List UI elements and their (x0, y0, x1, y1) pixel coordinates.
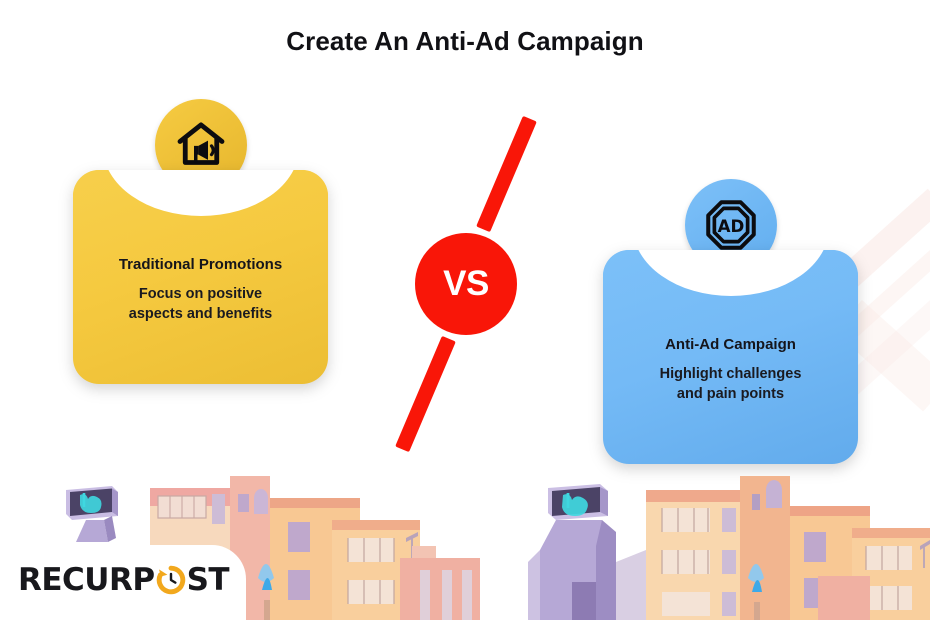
logo-text-part1: RECURP (18, 565, 155, 596)
house-megaphone-icon (173, 117, 229, 173)
description-line-1: Focus on positive (73, 285, 328, 305)
billboard-tower-right (528, 484, 616, 620)
svg-text:AD: AD (718, 217, 745, 236)
card-notch (73, 170, 328, 230)
description-line-1: Highlight challenges (603, 365, 858, 385)
anti-ad-campaign-card: Anti-Ad Campaign Highlight challenges an… (603, 250, 858, 464)
vs-badge: VS (415, 233, 517, 335)
page-title: Create An Anti-Ad Campaign (0, 26, 930, 57)
ad-block-octagon-icon: AD (703, 197, 759, 253)
infographic-canvas: Create An Anti-Ad Campaign Traditional P… (0, 0, 930, 620)
traditional-promotions-description: Focus on positive aspects and benefits (73, 285, 328, 324)
traditional-promotions-card: Traditional Promotions Focus on positive… (73, 170, 328, 384)
description-line-2: aspects and benefits (73, 305, 328, 325)
logo-text-part2: ST (187, 565, 229, 596)
card-notch (603, 250, 858, 310)
vs-label: VS (443, 264, 489, 304)
billboard-monitor-left (66, 486, 118, 542)
traditional-promotions-label: Traditional Promotions (73, 256, 328, 273)
vs-slash-top (476, 116, 537, 232)
buildings-right (616, 476, 930, 620)
clock-refresh-icon (156, 565, 186, 595)
anti-ad-campaign-label: Anti-Ad Campaign (603, 336, 858, 353)
anti-ad-campaign-description: Highlight challenges and pain points (603, 365, 858, 404)
description-line-2: and pain points (603, 385, 858, 405)
recurpost-logo[interactable]: RECURP ST (18, 560, 229, 600)
vs-slash-bottom (395, 336, 456, 452)
